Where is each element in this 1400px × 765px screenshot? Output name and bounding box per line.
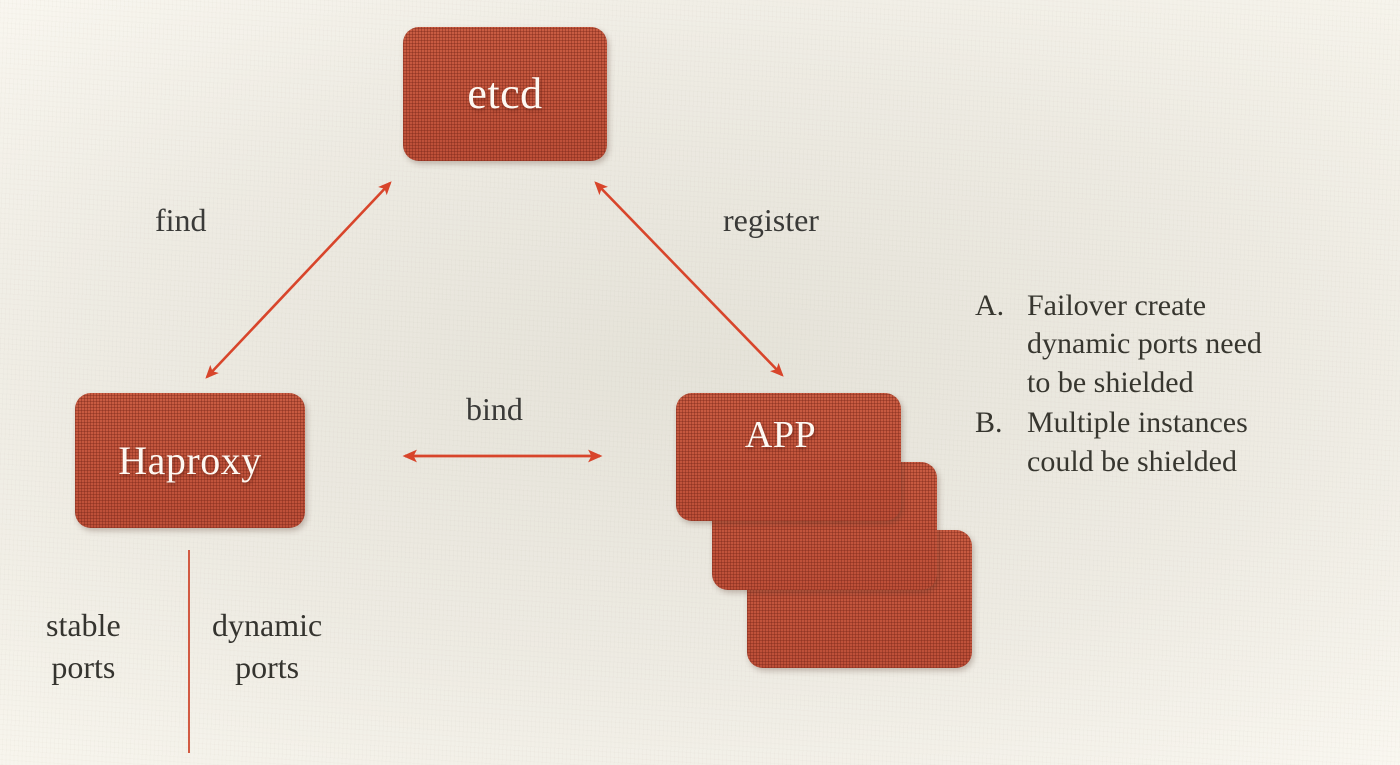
label-dynamic-ports-line1: dynamic bbox=[212, 605, 322, 647]
note-b-line2: could be shielded bbox=[1027, 443, 1390, 481]
label-stable-ports-line2: ports bbox=[46, 647, 121, 689]
note-a-line1: Failover create bbox=[1027, 287, 1390, 325]
label-dynamic-ports: dynamic ports bbox=[212, 605, 322, 688]
edge-label-register: register bbox=[723, 203, 819, 238]
node-etcd[interactable]: etcd bbox=[403, 27, 607, 161]
note-b-line1: Multiple instances bbox=[1027, 404, 1390, 442]
note-text-b: Multiple instances could be shielded bbox=[1027, 404, 1390, 481]
slide-canvas: etcd Haproxy APP APP APP find register b… bbox=[0, 0, 1400, 765]
edge-label-bind: bind bbox=[466, 392, 523, 427]
notes-list: A. Failover create dynamic ports need to… bbox=[975, 287, 1390, 483]
note-marker-a: A. bbox=[975, 287, 1027, 325]
note-marker-b: B. bbox=[975, 404, 1027, 442]
label-dynamic-ports-line2: ports bbox=[212, 647, 322, 689]
label-stable-ports-line1: stable bbox=[46, 605, 121, 647]
node-app-1[interactable]: APP bbox=[676, 393, 901, 521]
note-text-a: Failover create dynamic ports need to be… bbox=[1027, 287, 1390, 402]
note-a-line3: to be shielded bbox=[1027, 364, 1390, 402]
node-haproxy-label: Haproxy bbox=[118, 441, 261, 481]
node-haproxy[interactable]: Haproxy bbox=[75, 393, 305, 528]
node-app-1-label: APP bbox=[745, 416, 816, 454]
note-item-b: B. Multiple instances could be shielded bbox=[975, 404, 1390, 481]
node-etcd-label: etcd bbox=[467, 72, 542, 116]
edge-label-find: find bbox=[155, 203, 207, 238]
label-stable-ports: stable ports bbox=[46, 605, 121, 688]
arrow-find bbox=[207, 183, 390, 377]
note-item-a: A. Failover create dynamic ports need to… bbox=[975, 287, 1390, 402]
note-a-line2: dynamic ports need bbox=[1027, 325, 1390, 363]
